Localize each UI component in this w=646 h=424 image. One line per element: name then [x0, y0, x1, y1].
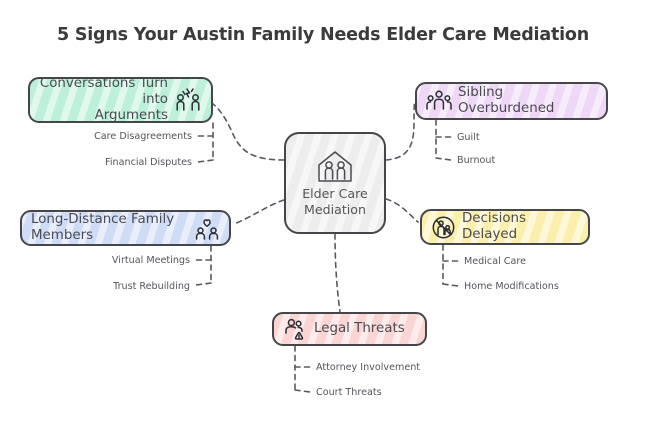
sublabel-medical-care: Medical Care [464, 256, 526, 267]
family-house-icon [315, 149, 355, 183]
center-node-elder-care-mediation[interactable]: Elder Care Mediation [284, 132, 386, 234]
sublabel-care-disagreements: Care Disagreements [94, 131, 192, 142]
conversations-label-line1: Conversations Turn into [39, 77, 168, 108]
clock-delay-icon [431, 215, 456, 240]
branch-node-sibling-overburdened[interactable]: Sibling Overburdened [415, 82, 608, 120]
branch-node-decisions-delayed[interactable]: Decisions Delayed [420, 209, 590, 245]
long-distance-label: Long-Distance Family Members [31, 212, 188, 244]
page-title: 5 Signs Your Austin Family Needs Elder C… [0, 25, 646, 45]
two-separated-people-icon [194, 216, 220, 241]
branch-node-legal-threats[interactable]: Legal Threats [272, 312, 427, 346]
center-label-line2: Mediation [302, 202, 368, 217]
people-warning-icon [283, 317, 308, 341]
sublabel-burnout: Burnout [457, 155, 495, 166]
sublabel-guilt: Guilt [457, 132, 480, 143]
sublabel-home-modifications: Home Modifications [464, 281, 559, 292]
two-people-arguing-icon [174, 86, 202, 114]
sublabel-virtual-meetings: Virtual Meetings [112, 255, 190, 266]
conversations-label-line2: Arguments [39, 108, 168, 123]
sublabel-court-threats: Court Threats [316, 387, 382, 398]
branch-node-conversations[interactable]: Conversations Turn into Arguments [28, 77, 213, 123]
sublabel-financial-disputes: Financial Disputes [105, 157, 192, 168]
decisions-label: Decisions Delayed [462, 211, 579, 243]
sibling-label: Sibling Overburdened [458, 85, 597, 117]
sublabel-attorney-involvement: Attorney Involvement [316, 362, 420, 373]
group-of-people-icon [426, 89, 452, 113]
sublabel-trust-rebuilding: Trust Rebuilding [113, 281, 190, 292]
branch-node-long-distance-family[interactable]: Long-Distance Family Members [20, 210, 231, 246]
legal-label: Legal Threats [314, 321, 405, 337]
center-label-line1: Elder Care [302, 186, 368, 201]
mindmap-canvas: 5 Signs Your Austin Family Needs Elder C… [0, 0, 646, 424]
